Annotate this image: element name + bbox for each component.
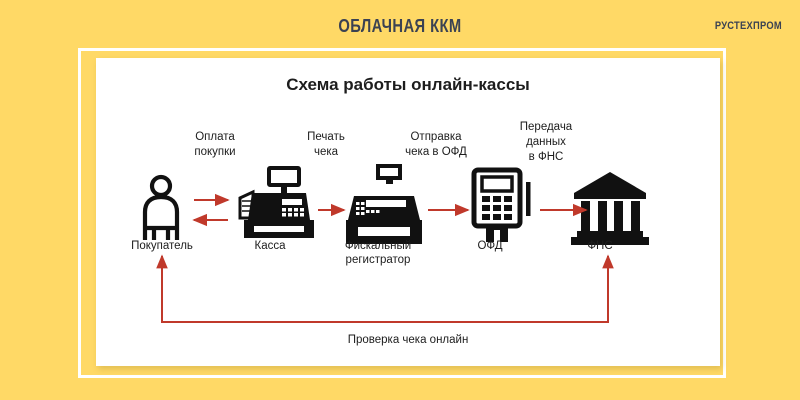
node-buyer-icon-slot xyxy=(108,168,216,232)
flow-label-receipt: Печать чека xyxy=(271,130,381,160)
page-title: ОБЛАЧНАЯ ККМ xyxy=(72,16,728,37)
node-fns-label: ФНС xyxy=(546,239,654,253)
flow-label-to-fns-line1: Передача xyxy=(491,120,601,135)
flow-diagram: Оплата покупки Печать чека Отправка чека… xyxy=(96,58,720,366)
node-ofd-icon-slot xyxy=(436,168,544,232)
flow-label-payment-line2: покупки xyxy=(160,145,270,160)
node-ofd: ОФД xyxy=(436,168,544,253)
node-kassa-icon-slot xyxy=(216,168,324,232)
flow-label-to-ofd-line1: Отправка xyxy=(381,130,491,145)
flow-label-receipt-line1: Печать xyxy=(271,130,381,145)
flow-label-to-ofd: Отправка чека в ОФД xyxy=(381,130,491,160)
flow-label-payment-line1: Оплата xyxy=(160,130,270,145)
flow-label-to-fns-line2: данных xyxy=(491,135,601,150)
node-buyer: Покупатель xyxy=(108,168,216,253)
brand-logo: РУСТЕХПРОМ xyxy=(715,20,782,32)
node-kassa: Касса xyxy=(216,168,324,253)
flow-label-payment: Оплата покупки xyxy=(160,130,270,160)
node-fiscal-label-line2: регистратор xyxy=(324,253,432,267)
node-fiscal-icon-slot xyxy=(324,168,432,232)
node-kassa-label: Касса xyxy=(216,239,324,253)
node-fiscal-label-line1: Фискальный xyxy=(324,239,432,253)
node-buyer-label: Покупатель xyxy=(108,239,216,253)
diagram-card: Схема работы онлайн-кассы xyxy=(96,58,720,366)
flow-label-receipt-line2: чека xyxy=(271,145,381,160)
loop-label-check-receipt: Проверка чека онлайн xyxy=(96,334,720,346)
node-fiscal-label: Фискальный регистратор xyxy=(324,239,432,268)
flow-label-to-fns: Передача данных в ФНС xyxy=(491,120,601,165)
page-header: ОБЛАЧНАЯ ККМ РУСТЕХПРОМ xyxy=(0,0,800,48)
flow-label-to-fns-line3: в ФНС xyxy=(491,150,601,165)
flow-label-to-ofd-line2: чека в ОФД xyxy=(381,145,491,160)
node-ofd-label: ОФД xyxy=(436,239,544,253)
node-fns: ФНС xyxy=(546,168,654,253)
node-fns-icon-slot xyxy=(546,168,654,232)
node-fiscal: Фискальный регистратор xyxy=(324,168,432,268)
